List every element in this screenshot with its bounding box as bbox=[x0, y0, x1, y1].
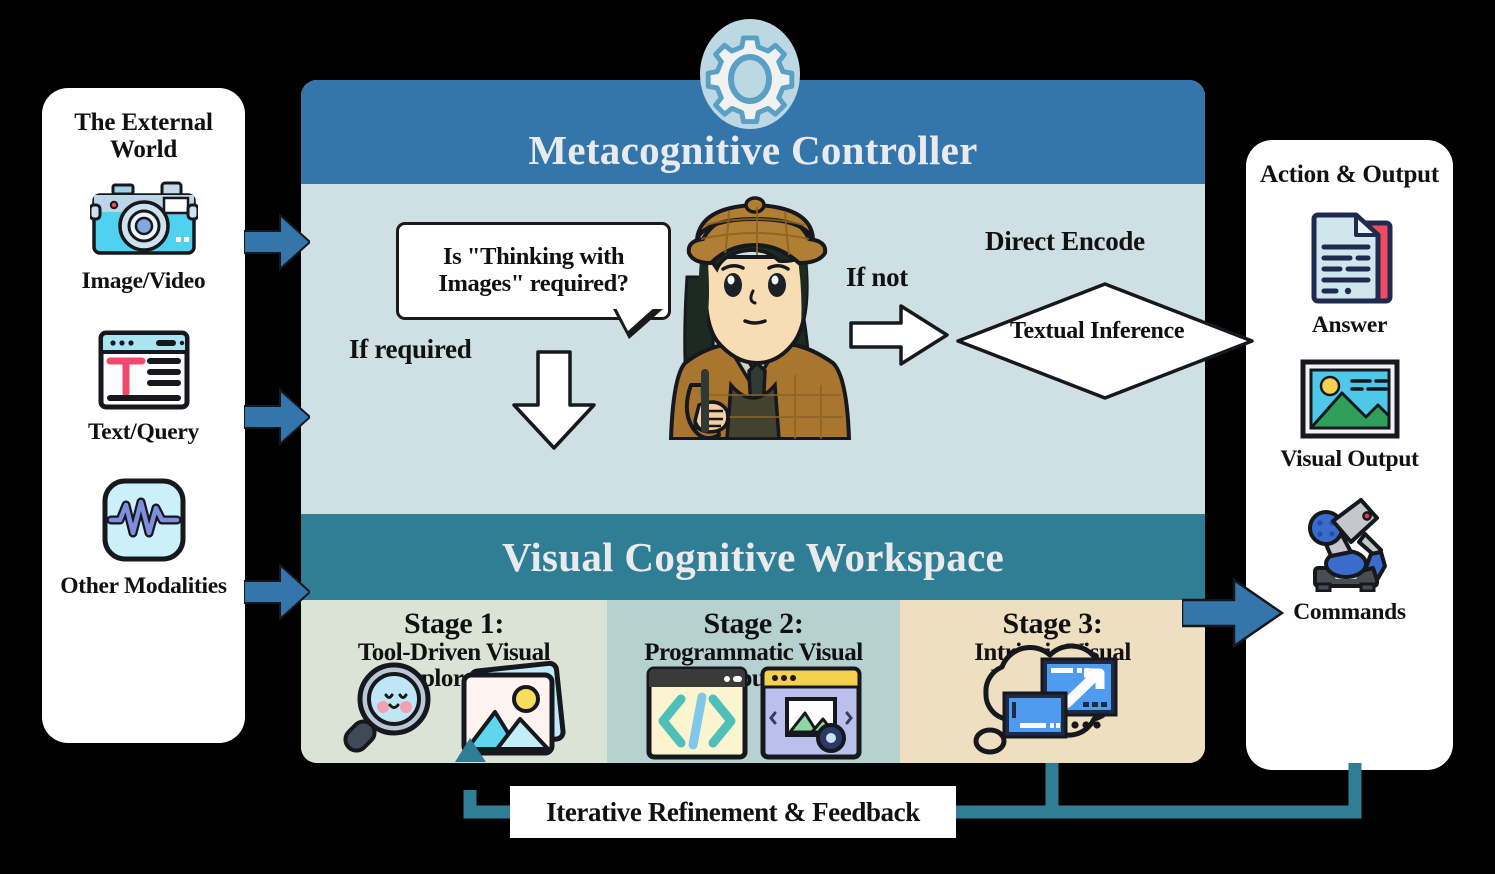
robot-arm-icon-box bbox=[1297, 494, 1403, 592]
landscape-image-icon bbox=[1300, 359, 1400, 439]
documents-icon bbox=[1302, 203, 1398, 307]
image-editor-icon bbox=[759, 663, 863, 761]
speech-bubble-tail-inner bbox=[615, 306, 656, 331]
stage-3-icons bbox=[900, 637, 1205, 761]
code-window-icon bbox=[645, 663, 749, 761]
robot-arm-icon bbox=[1297, 494, 1403, 592]
diagram-canvas: The External World Image/Video bbox=[0, 0, 1495, 874]
stage-2-icons bbox=[607, 649, 900, 761]
stage-2-column[interactable]: Stage 2: Programmatic Visual Manipulatio… bbox=[607, 600, 900, 763]
right-panel-item-0-label: Answer bbox=[1312, 313, 1387, 338]
feedback-label-text: Iterative Refinement & Feedback bbox=[546, 797, 920, 828]
left-panel-title: The External World bbox=[54, 110, 234, 163]
feedback-label: Iterative Refinement & Feedback bbox=[510, 786, 956, 838]
external-world-panel: The External World Image/Video bbox=[42, 88, 245, 743]
visual-cognitive-workspace-title: Visual Cognitive Workspace bbox=[301, 514, 1205, 600]
left-panel-item-2-label: Other Modalities bbox=[59, 574, 229, 599]
left-panel-item-0-label: Image/Video bbox=[82, 269, 206, 294]
right-panel-title: Action & Output bbox=[1260, 162, 1440, 189]
right-panel-item-1-label: Visual Output bbox=[1280, 447, 1418, 472]
camera-icon-box bbox=[90, 181, 198, 259]
input-arrow-image bbox=[244, 213, 310, 271]
right-arrow-icon bbox=[849, 304, 949, 366]
stages-row: Stage 1: Tool-Driven Visual Exploration bbox=[301, 600, 1205, 763]
stage-1-number: Stage 1: bbox=[301, 608, 607, 640]
action-output-panel: Action & Output Answer bbox=[1246, 140, 1453, 770]
magnifier-face-icon bbox=[336, 657, 448, 761]
landscape-image-icon-box bbox=[1300, 359, 1400, 439]
right-panel-item-2-label: Commands bbox=[1293, 600, 1406, 625]
stage-3-column[interactable]: Stage 3: Intrinsic Visual Imagination bbox=[900, 600, 1205, 763]
left-panel-item-1-label: Text/Query bbox=[88, 420, 199, 445]
stage-2-number: Stage 2: bbox=[607, 608, 900, 640]
input-arrow-text bbox=[244, 388, 310, 446]
speech-bubble-text: Is "Thinking with Images" required? bbox=[399, 244, 668, 298]
waveform-icon bbox=[102, 478, 186, 562]
input-arrow-other bbox=[244, 563, 310, 621]
metacognitive-controller-title: Metacognitive Controller bbox=[301, 126, 1205, 184]
text-document-icon-box bbox=[98, 330, 190, 410]
gear-icon bbox=[697, 18, 803, 130]
if-required-label: If required bbox=[349, 334, 471, 365]
waveform-icon-box bbox=[102, 478, 186, 562]
output-arrow bbox=[1182, 578, 1284, 648]
textual-inference-label: Textual Inference bbox=[1010, 318, 1184, 345]
stage-1-icons bbox=[301, 649, 607, 761]
photo-stack-icon bbox=[452, 657, 572, 761]
stage-3-number: Stage 3: bbox=[900, 608, 1205, 640]
detective-character bbox=[645, 195, 875, 440]
thought-cloud-icon bbox=[938, 637, 1168, 761]
down-arrow-icon bbox=[511, 350, 597, 450]
documents-icon-box bbox=[1302, 203, 1398, 307]
camera-icon bbox=[90, 181, 198, 259]
stage-1-column[interactable]: Stage 1: Tool-Driven Visual Exploration bbox=[301, 600, 607, 763]
text-document-icon bbox=[98, 330, 190, 410]
direct-encode-label: Direct Encode bbox=[985, 226, 1145, 257]
